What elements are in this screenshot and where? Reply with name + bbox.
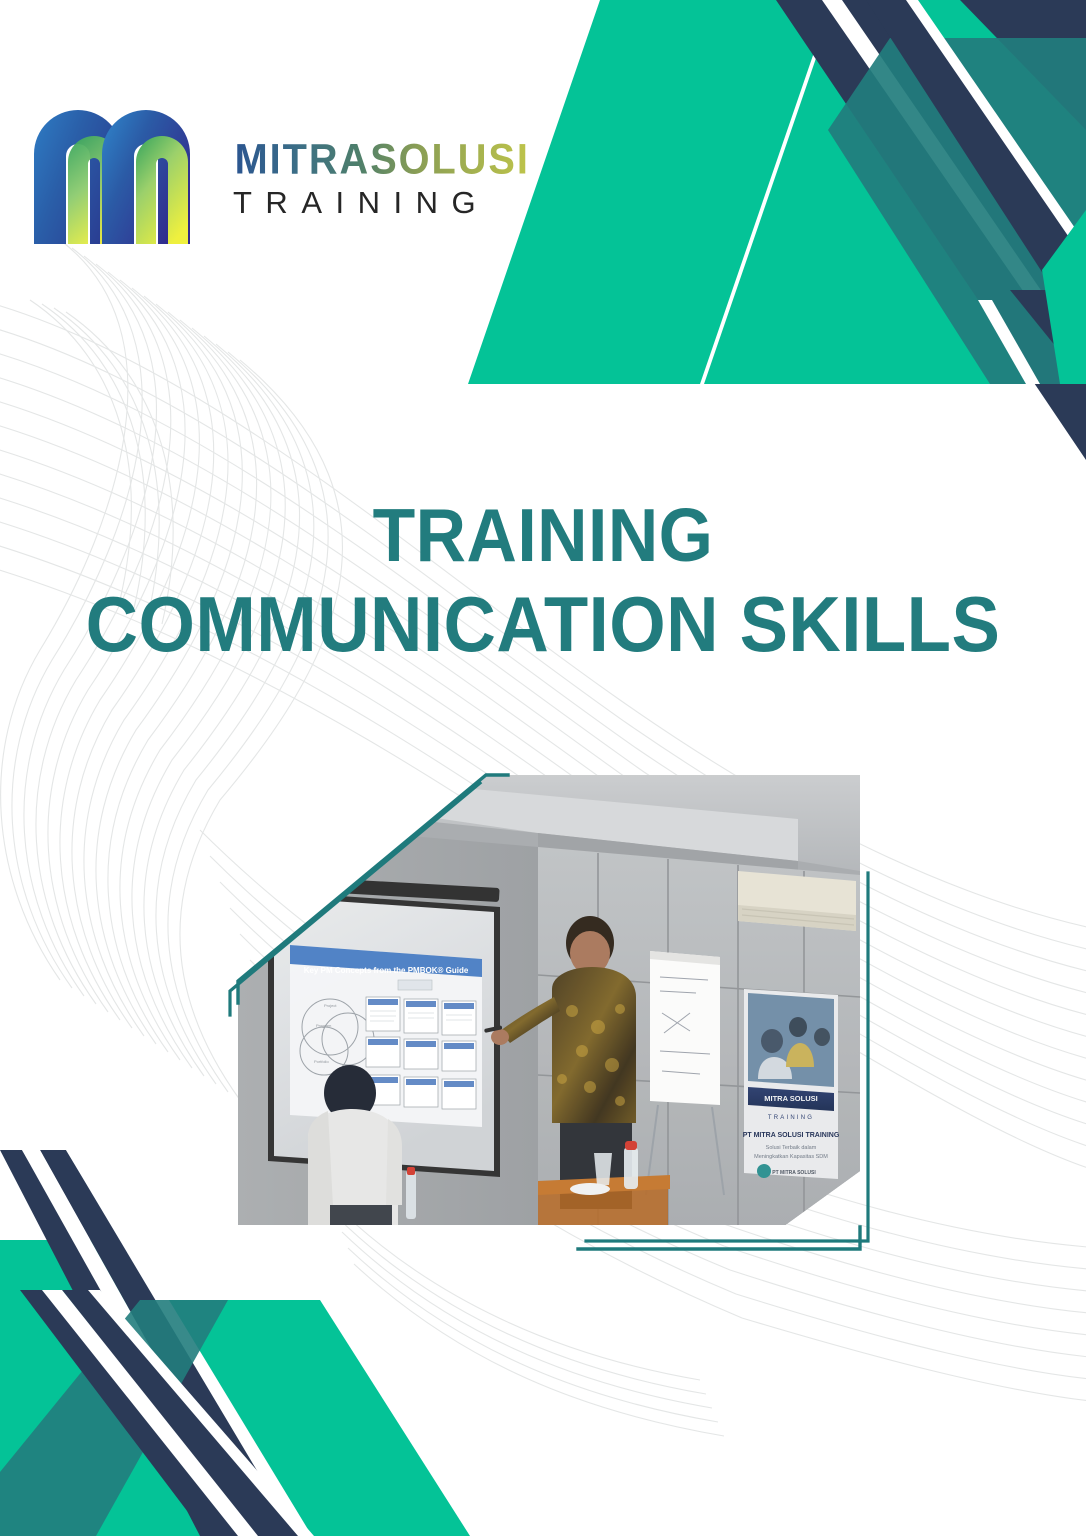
cover-photo: Key PM Concepts from the PMBOK® Guide Pr… <box>238 775 860 1225</box>
brand-subtitle: TRAINING <box>233 187 558 218</box>
top-right-navy-chevron-bands <box>776 0 1086 460</box>
photo-banner-tagline-2: Meningkatkan Kapasitas SDM <box>0 0 1 1</box>
top-right-green-parallelogram <box>468 0 1086 384</box>
brand-word-part-2: SOLUSI <box>228 218 229 219</box>
svg-text:MITRASOLUSI: MITRASOLUSI <box>235 136 530 183</box>
cover-photo-frame: Key PM Concepts from the PMBOK® Guide Pr… <box>238 775 860 1225</box>
photo-alt-text: Trainer in batik shirt pointing at a pro… <box>0 0 1 1</box>
training-room-photo-illustration: Key PM Concepts from the PMBOK® Guide Pr… <box>238 775 860 1225</box>
brochure-cover-page: MITRASOLUSI TRAINING MITRA SOLUSI TRAINI… <box>0 0 1086 1536</box>
page-title: TRAINING COMMUNICATION SKILLS <box>0 492 1086 669</box>
title-line-1: TRAINING <box>62 492 1024 579</box>
brand-word-part-1: MITRA <box>228 218 229 219</box>
bottom-left-green-parallelograms <box>0 1240 470 1536</box>
photo-slide-heading: Key PM Concepts from the PMBOK® Guide <box>0 0 1 1</box>
bottom-left-teal-overlap <box>0 1300 228 1536</box>
photo-banner-tagline-1: Solusi Terbaik dalam <box>0 0 1 1</box>
brand-wordmark-group: MITRASOLUSI TRAINING MITRA SOLUSI <box>228 92 558 218</box>
title-line-2: COMMUNICATION SKILLS <box>62 579 1024 669</box>
photo-banner-company: PT MITRA SOLUSI TRAINING <box>0 0 1 1</box>
mitra-solusi-arch-m-icon <box>28 92 224 247</box>
mitra-solusi-wordmark: MITRASOLUSI <box>228 136 558 184</box>
top-right-teal-triangle <box>828 38 1086 384</box>
brand-logo: MITRASOLUSI TRAINING MITRA SOLUSI <box>28 92 558 247</box>
